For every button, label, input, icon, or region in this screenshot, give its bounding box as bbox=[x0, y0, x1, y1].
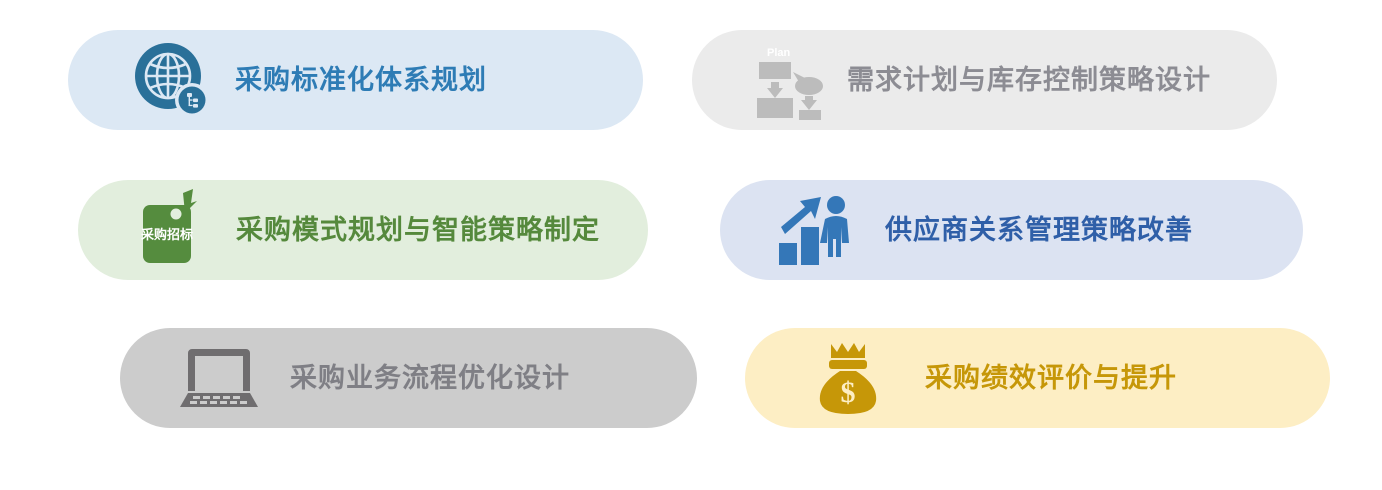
bid-tag-icon: 采购招标 bbox=[128, 189, 228, 271]
card-label: 采购标准化体系规划 bbox=[235, 67, 487, 94]
money-bag-icon: $ bbox=[803, 340, 893, 416]
card-procurement-mode-planning-smart-strategy[interactable]: 采购招标 采购模式规划与智能策略制定 bbox=[78, 180, 648, 280]
card-supplier-relationship-management-strategy[interactable]: 供应商关系管理策略改善 bbox=[720, 180, 1303, 280]
card-label: 采购模式规划与智能策略制定 bbox=[236, 217, 600, 244]
flowchart-plan-icon: Plan bbox=[742, 40, 837, 120]
card-label: 需求计划与库存控制策略设计 bbox=[847, 67, 1211, 94]
card-label: 采购业务流程优化设计 bbox=[290, 365, 570, 392]
diagram-canvas: 采购标准化体系规划 Plan 需求计划与库存控制策略设计 采购招标 bbox=[0, 0, 1382, 490]
card-procurement-process-optimization-design[interactable]: 采购业务流程优化设计 bbox=[120, 328, 697, 428]
bid-tag-caption: 采购招标 bbox=[140, 227, 193, 242]
card-label: 供应商关系管理策略改善 bbox=[885, 217, 1193, 244]
money-bag-dollar-glyph: $ bbox=[841, 376, 856, 409]
flowchart-plan-caption: Plan bbox=[767, 47, 791, 59]
laptop-icon bbox=[168, 343, 268, 413]
card-procurement-standardization-planning[interactable]: 采购标准化体系规划 bbox=[68, 30, 643, 130]
card-demand-plan-inventory-control-strategy-design[interactable]: Plan 需求计划与库存控制策略设计 bbox=[692, 30, 1277, 130]
globe-network-icon bbox=[120, 40, 225, 120]
growth-chart-person-icon bbox=[768, 193, 863, 267]
card-procurement-performance-evaluation-improvement[interactable]: $ 采购绩效评价与提升 bbox=[745, 328, 1330, 428]
card-label: 采购绩效评价与提升 bbox=[925, 365, 1177, 392]
